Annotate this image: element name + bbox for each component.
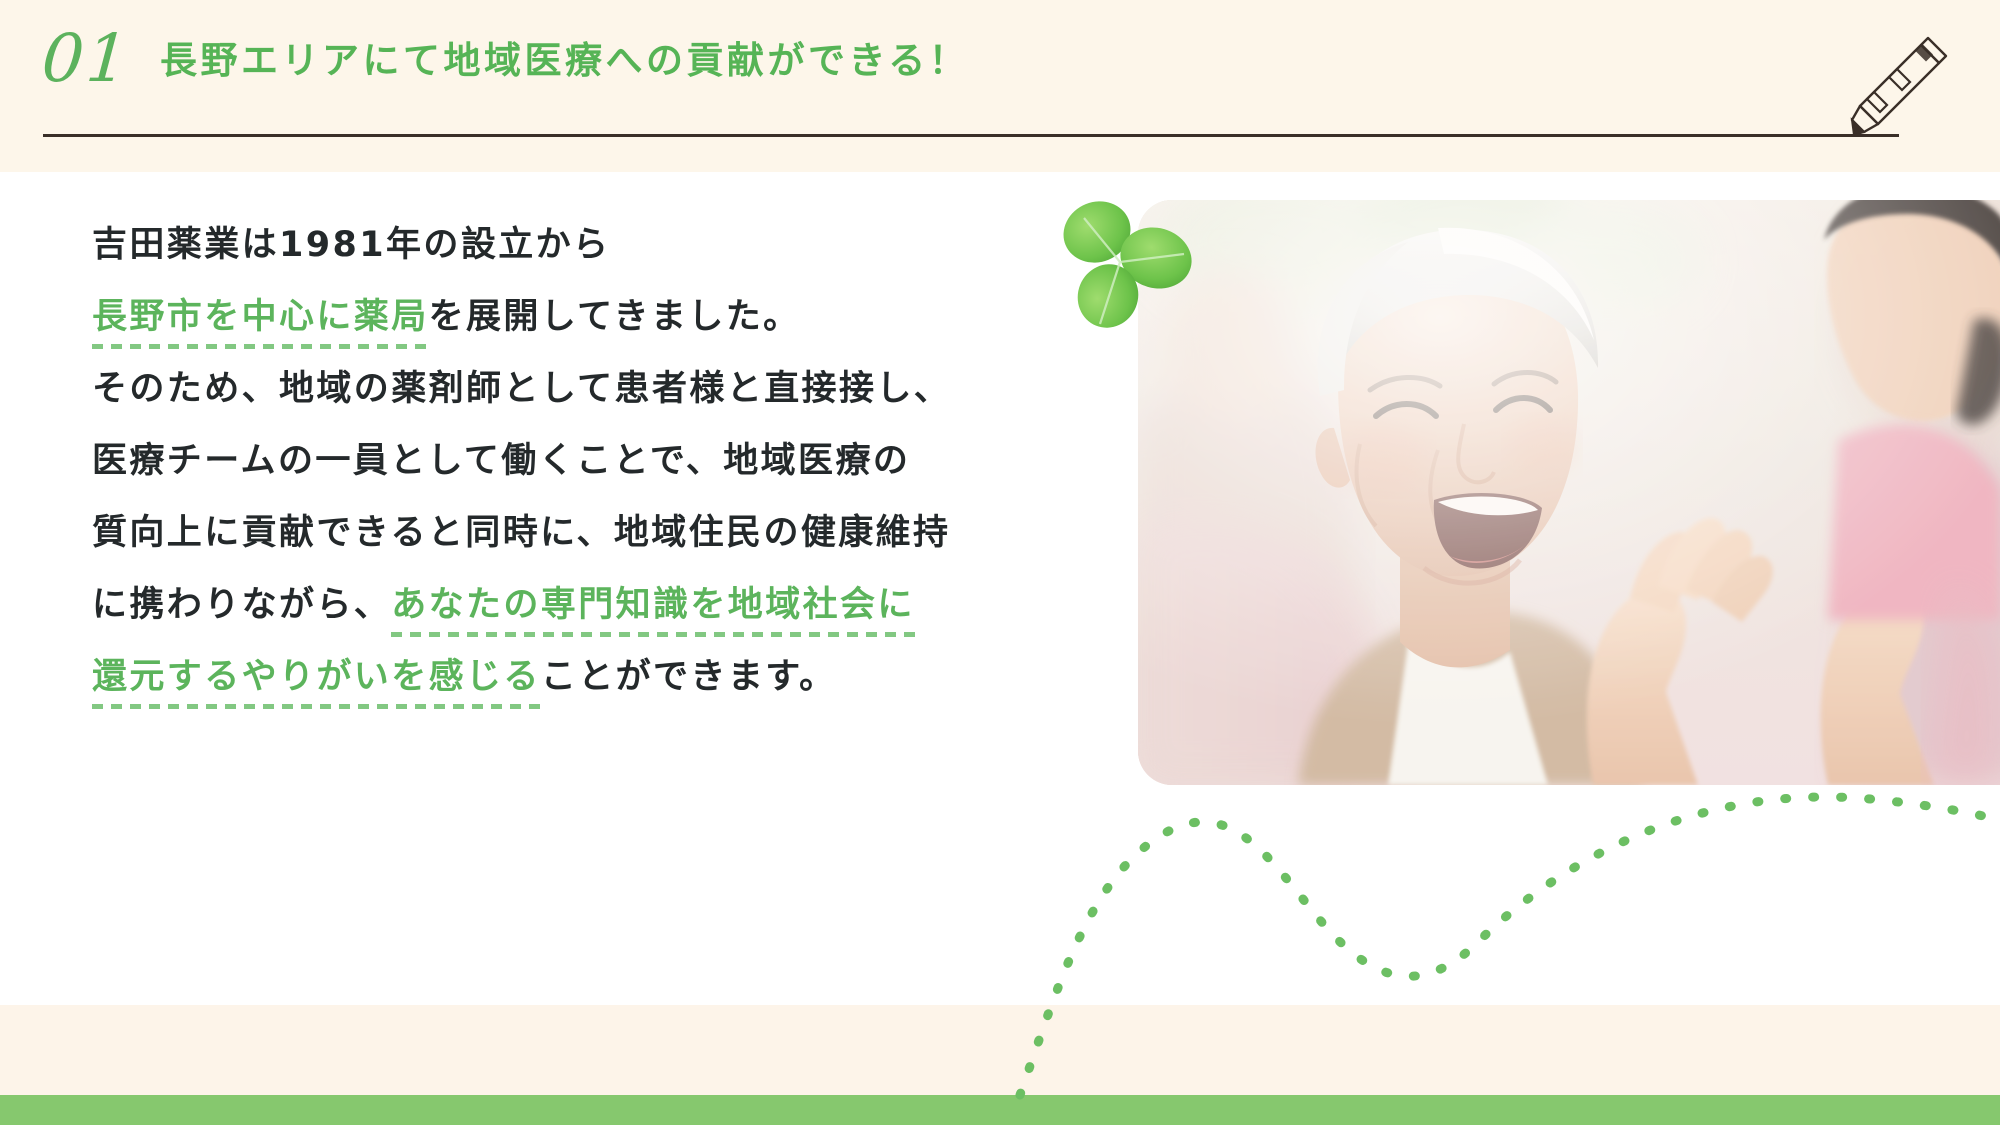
- copy-line: そのため、地域の薬剤師として患者様と直接接し、: [92, 372, 892, 444]
- hero-photo: [1138, 200, 2000, 785]
- header-band: 01 長野エリアにて地域医療への貢献ができる！: [0, 0, 2000, 172]
- copy-segment: 還元するやりがいを感じる: [92, 657, 541, 709]
- pen-icon: [1834, 32, 1954, 144]
- copy-line: 吉田薬業は1981年の設立から: [92, 228, 892, 300]
- copy-line: 長野市を中心に薬局を展開してきました。: [92, 300, 892, 372]
- bottom-green-bar: [0, 1095, 2000, 1125]
- copy-line: に携わりながら、あなたの専門知識を地域社会に: [92, 588, 892, 660]
- page-title: 長野エリアにて地域医療への貢献ができる！: [160, 42, 969, 79]
- section-number: 01: [40, 26, 133, 92]
- copy-segment: あなたの専門知識を地域社会に: [391, 585, 915, 637]
- clover-leaf-icon: [1050, 196, 1198, 332]
- copy-segment: 吉田薬業は1981年の設立から: [92, 225, 610, 265]
- body-copy: 吉田薬業は1981年の設立から 長野市を中心に薬局を展開してきました。 そのため…: [92, 228, 892, 732]
- header-inner: 01 長野エリアにて地域医療への貢献ができる！: [0, 0, 2000, 172]
- copy-segment: 医療チームの一員として働くことで、地域医療の: [92, 441, 910, 481]
- slide-root: 01 長野エリアにて地域医療への貢献ができる！ 吉田薬業: [0, 0, 2000, 1125]
- copy-segment: を展開してきました。: [429, 297, 801, 337]
- copy-line: 医療チームの一員として働くことで、地域医療の: [92, 444, 892, 516]
- copy-segment: ことができます。: [541, 657, 837, 697]
- copy-segment: 質向上に貢献できると同時に、地域住民の健康維持: [92, 513, 950, 553]
- copy-segment: に携わりながら、: [92, 585, 391, 625]
- copy-segment: 長野市を中心に薬局: [92, 297, 429, 349]
- copy-line: 質向上に貢献できると同時に、地域住民の健康維持: [92, 516, 892, 588]
- copy-segment: そのため、地域の薬剤師として患者様と直接接し、: [92, 369, 951, 409]
- header-underline: [43, 134, 1899, 137]
- copy-line: 還元するやりがいを感じることができます。: [92, 660, 892, 732]
